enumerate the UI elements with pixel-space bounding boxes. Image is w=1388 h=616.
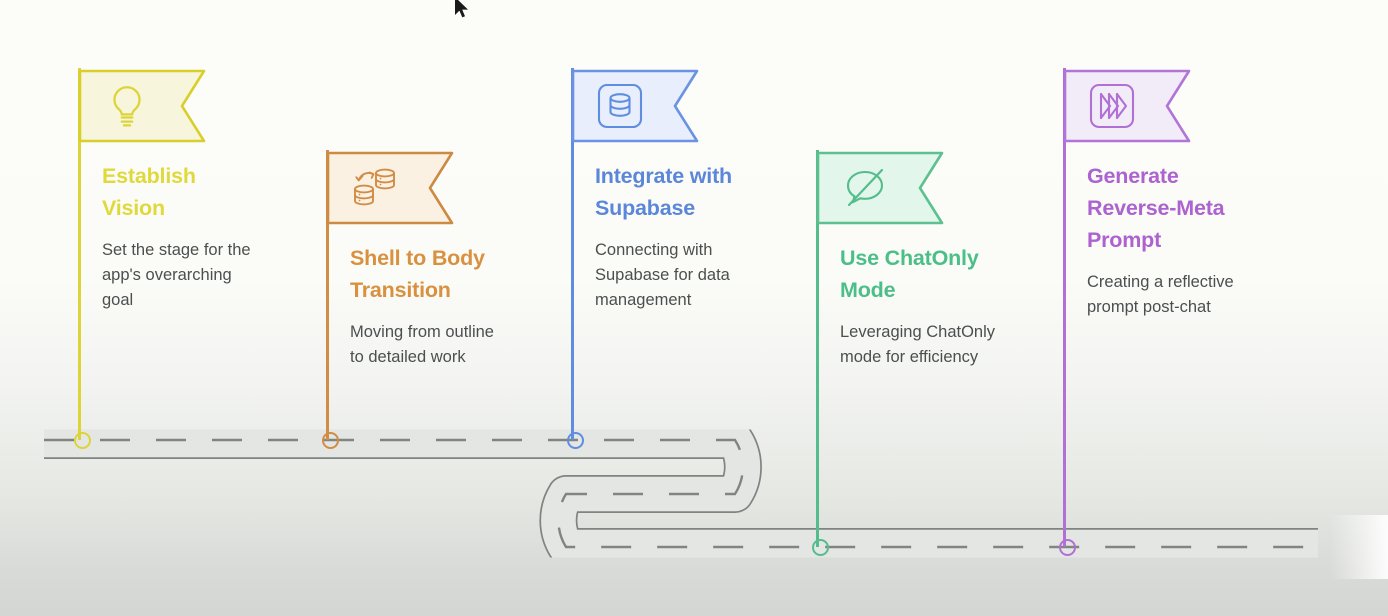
lightbulb-icon	[98, 77, 156, 135]
road-marker-establish-vision[interactable]	[74, 432, 91, 449]
milestone-shell-to-body-transition[interactable]: Shell to Body Transition Moving from out…	[326, 150, 526, 370]
milestone-description: Set the stage for the app's overarching …	[102, 238, 278, 313]
road-marker-integrate-with-supabase[interactable]	[567, 432, 584, 449]
milestone-description: Leveraging ChatOnly mode for efficiency	[840, 320, 1016, 370]
chat-off-icon	[836, 159, 894, 217]
milestone-title: Establish Vision	[102, 160, 278, 224]
milestone-flag	[571, 68, 699, 144]
milestone-generate-reverse-meta-prompt[interactable]: Generate Reverse-Meta Prompt Creating a …	[1063, 68, 1263, 320]
milestone-title: Integrate with Supabase	[595, 160, 771, 224]
milestone-flag	[816, 150, 944, 226]
milestone-flag	[78, 68, 206, 144]
milestone-title: Shell to Body Transition	[350, 242, 526, 306]
milestone-integrate-with-supabase[interactable]: Integrate with Supabase Connecting with …	[571, 68, 771, 313]
milestone-description: Creating a reflective prompt post-chat	[1087, 270, 1263, 320]
milestone-establish-vision[interactable]: Establish Vision Set the stage for the a…	[78, 68, 278, 313]
milestone-flag	[1063, 68, 1191, 144]
milestone-description: Connecting with Supabase for data manage…	[595, 238, 771, 313]
milestone-flag	[326, 150, 454, 226]
milestone-description: Moving from outline to detailed work	[350, 320, 526, 370]
road-marker-generate-reverse-meta-prompt[interactable]	[1059, 539, 1076, 556]
road-marker-use-chatonly-mode[interactable]	[812, 539, 829, 556]
road-right-fade	[1180, 515, 1388, 579]
road-marker-shell-to-body-transition[interactable]	[322, 432, 339, 449]
roadmap-canvas: Establish Vision Set the stage for the a…	[0, 0, 1388, 616]
milestone-title: Generate Reverse-Meta Prompt	[1087, 160, 1263, 256]
triple-chevron-icon	[1083, 77, 1141, 135]
database-icon	[591, 77, 649, 135]
milestone-use-chatonly-mode[interactable]: Use ChatOnly Mode Leveraging ChatOnly mo…	[816, 150, 1016, 370]
milestone-title: Use ChatOnly Mode	[840, 242, 1016, 306]
database-migration-icon	[346, 159, 404, 217]
